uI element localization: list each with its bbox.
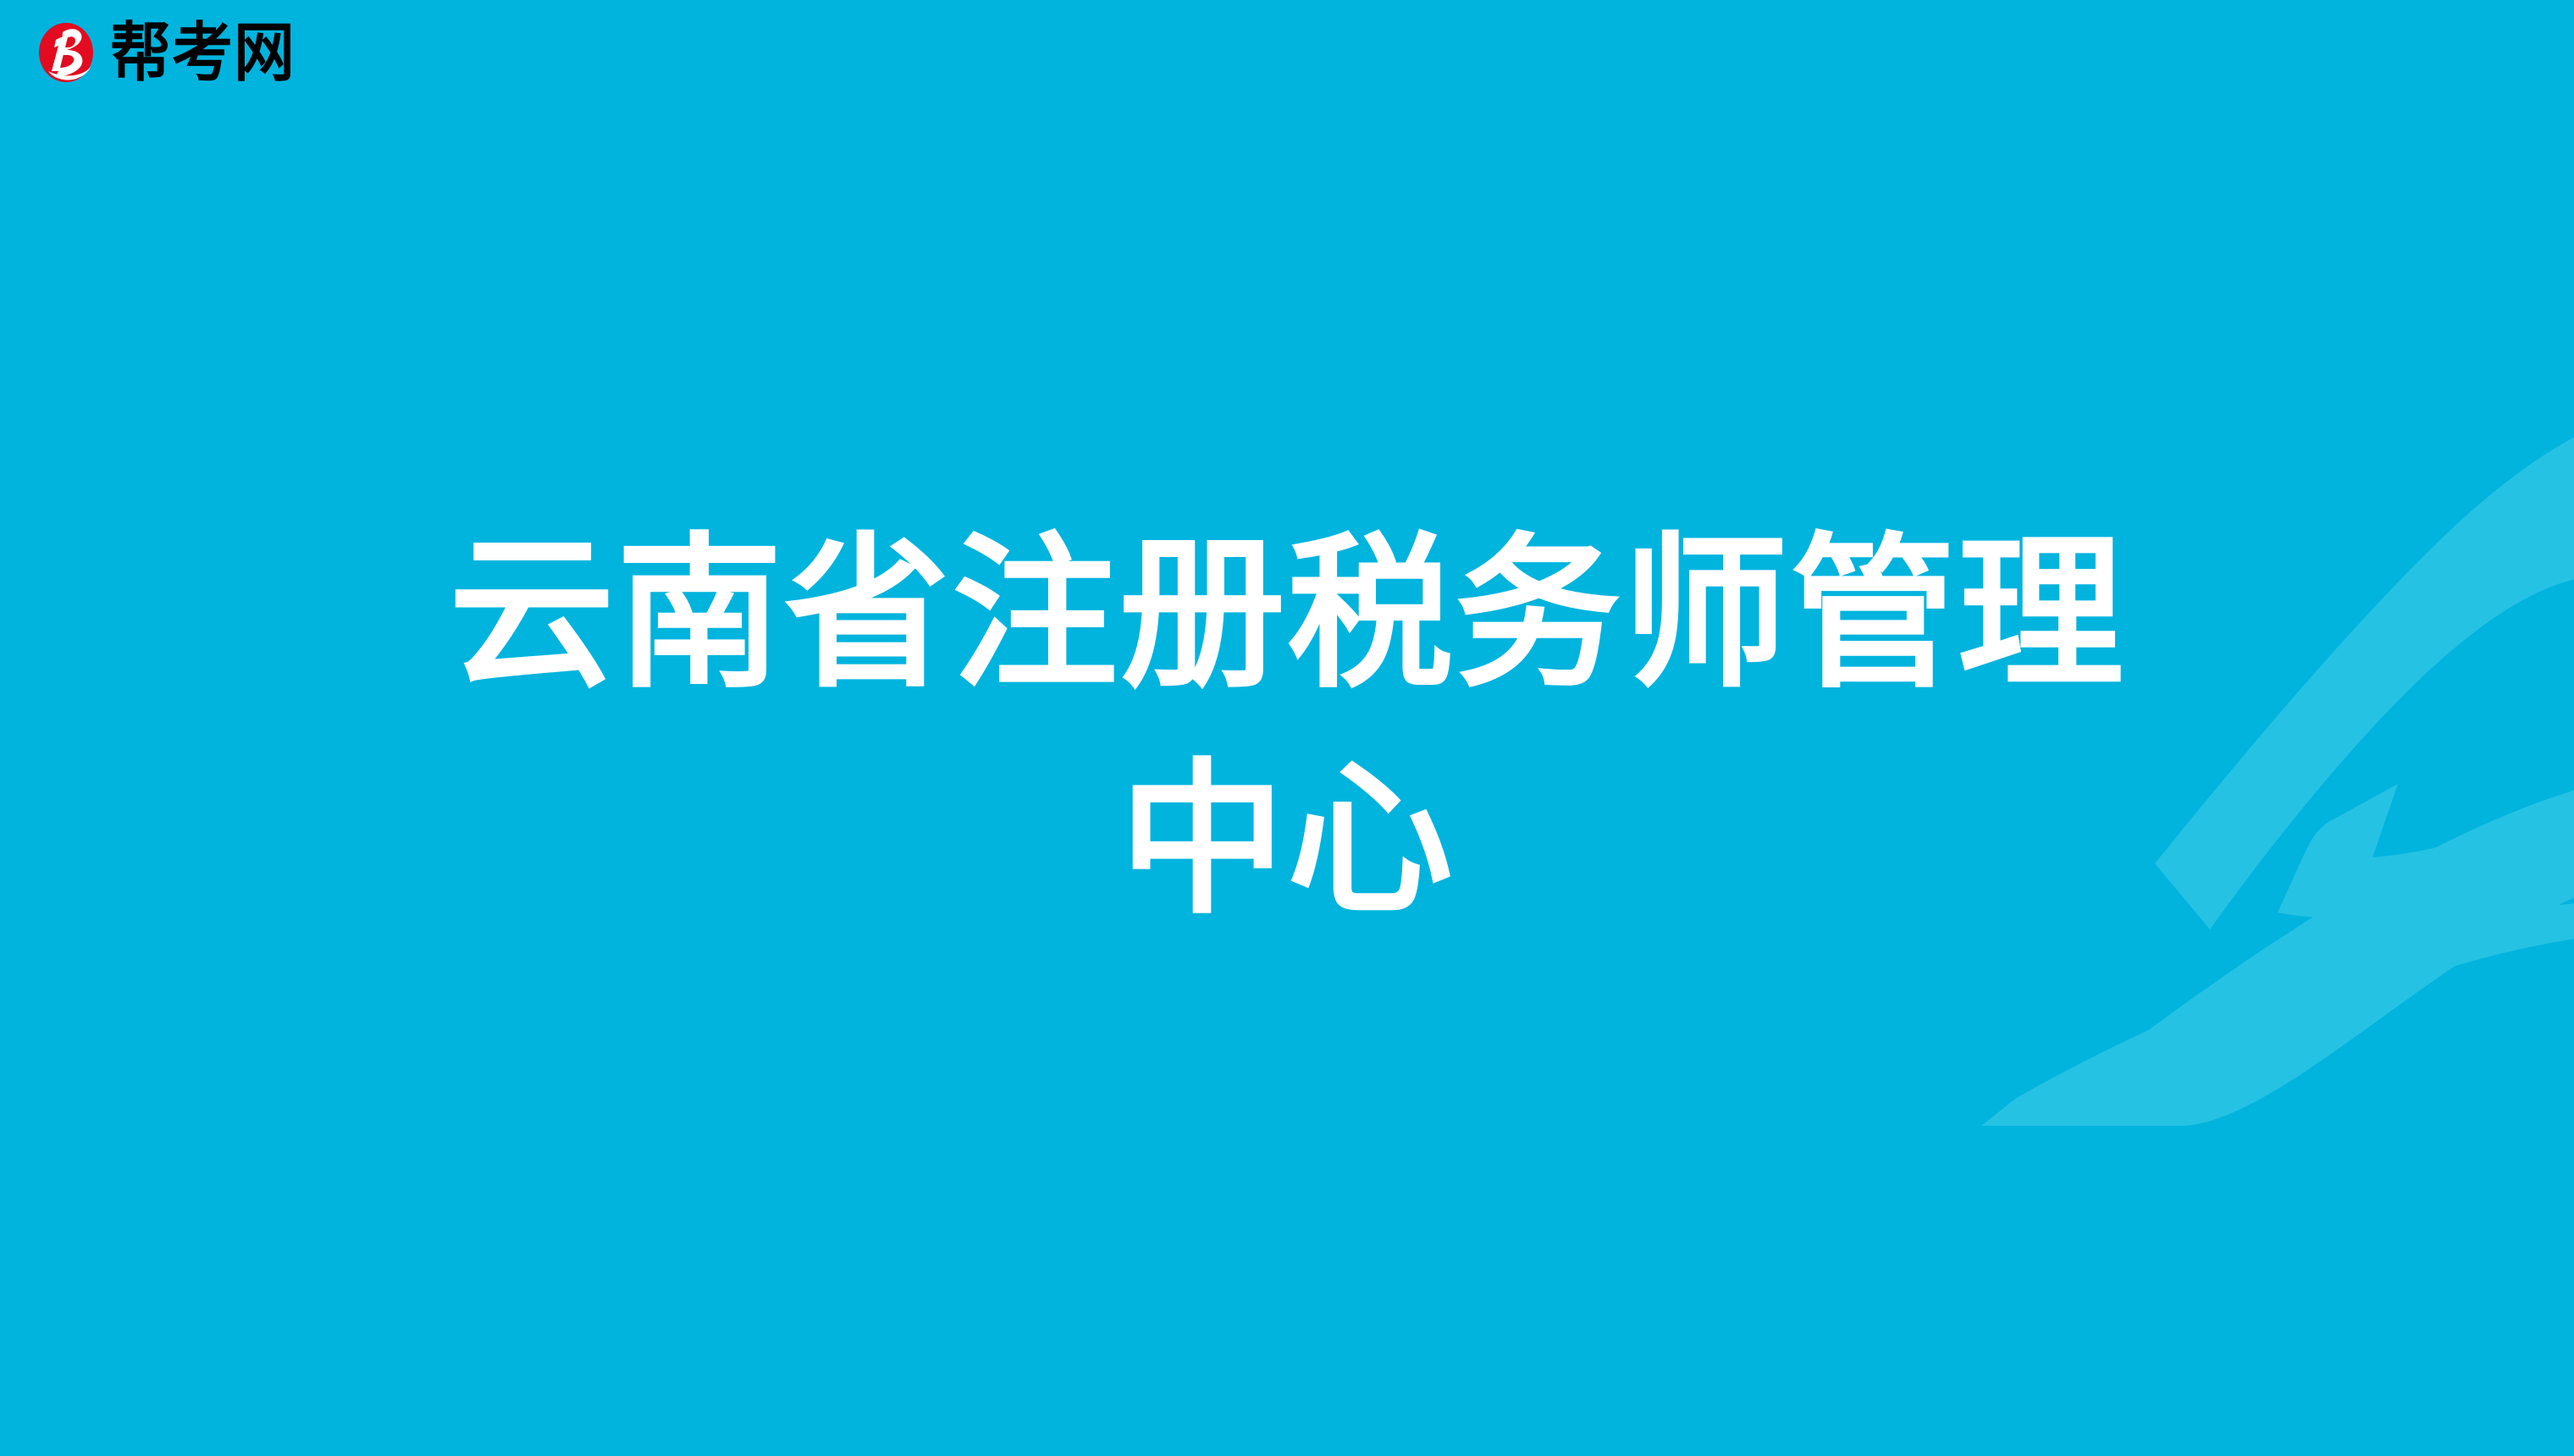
bangkao-b-logo-icon (37, 20, 95, 85)
brand-logo: 帮考网 (37, 20, 296, 85)
slide-canvas: 帮考网 云南省注册税务师管理 中心 (0, 0, 2574, 1456)
hero-title-line-2: 中心 (1119, 728, 1455, 954)
hero-title-block: 云南省注册税务师管理 中心 (0, 0, 2574, 1456)
hero-title-line-1: 云南省注册税务师管理 (449, 502, 2125, 728)
brand-name: 帮考网 (110, 20, 296, 85)
